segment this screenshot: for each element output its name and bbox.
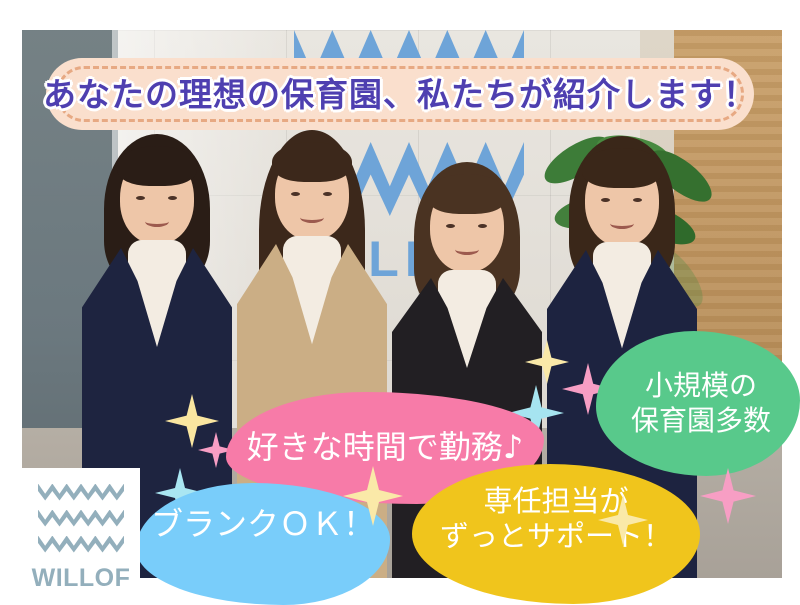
- hair-fringe: [582, 148, 662, 188]
- promo-banner: WILLOF: [0, 0, 800, 600]
- hair-fringe: [117, 146, 197, 186]
- bubble-dedicated-support[interactable]: 専任担当が ずっとサポート！: [412, 464, 700, 604]
- bubble-blank-ok[interactable]: ブランクＯＫ！: [136, 483, 390, 605]
- willof-logo[interactable]: WILLOF: [22, 468, 140, 600]
- logo-wordmark: WILLOF: [32, 566, 131, 591]
- headline-text: あなたの理想の保育園、私たちが紹介します！: [46, 58, 754, 130]
- headline-banner: あなたの理想の保育園、私たちが紹介します！: [46, 58, 754, 130]
- hair-fringe: [427, 174, 507, 214]
- logo-zigzag-icon: [38, 484, 124, 553]
- hair-fringe: [272, 142, 352, 182]
- bubble-small-nursery[interactable]: 小規模の 保育園多数: [596, 331, 800, 476]
